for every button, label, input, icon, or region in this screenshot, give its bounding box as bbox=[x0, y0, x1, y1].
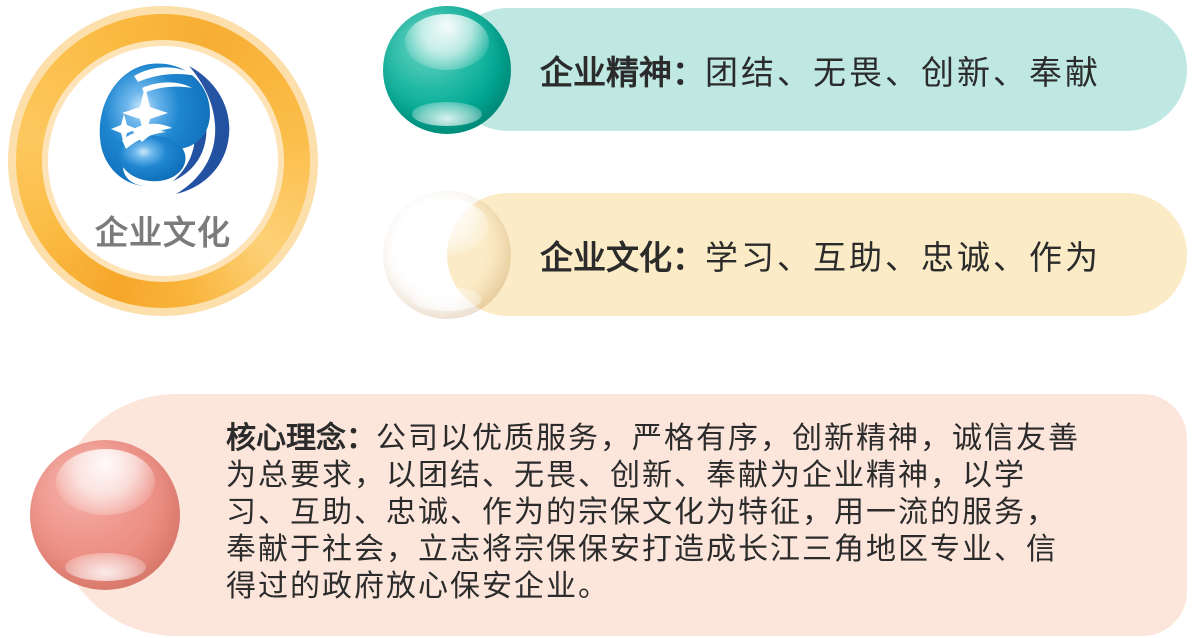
core-philosophy-text: 核心理念：公司以优质服务，严格有序，创新精神，诚信友善为总要求，以团结、无畏、创… bbox=[226, 420, 1086, 605]
banner-culture-label: 企业文化： bbox=[540, 239, 705, 276]
sphere-highlight-bottom bbox=[412, 287, 481, 311]
banner-culture-text: 企业文化：学习、互助、忠诚、作为 bbox=[447, 231, 1101, 279]
yellow-sphere-bullet bbox=[383, 191, 511, 319]
sphere-highlight-top bbox=[56, 449, 155, 515]
culture-emblem: 企业文化 bbox=[8, 6, 318, 316]
pink-sphere-bullet bbox=[30, 440, 180, 590]
banner-culture-body: 学习、互助、忠诚、作为 bbox=[705, 241, 1101, 277]
teal-sphere-bullet bbox=[383, 6, 511, 134]
company-eagle-wave-logo-icon bbox=[88, 50, 240, 202]
sphere-highlight-bottom bbox=[412, 102, 481, 126]
banner-enterprise-culture: 企业文化：学习、互助、忠诚、作为 bbox=[447, 193, 1187, 316]
sphere-highlight-bottom bbox=[65, 553, 146, 582]
banner-spirit-body: 团结、无畏、创新、奉献 bbox=[705, 56, 1101, 92]
core-philosophy-label: 核心理念： bbox=[226, 422, 376, 455]
banner-spirit-label: 企业精神： bbox=[540, 54, 705, 91]
sphere-highlight-top bbox=[405, 199, 489, 255]
banner-enterprise-spirit: 企业精神：团结、无畏、创新、奉献 bbox=[447, 8, 1187, 131]
sphere-highlight-top bbox=[405, 14, 489, 70]
banner-spirit-text: 企业精神：团结、无畏、创新、奉献 bbox=[447, 46, 1101, 94]
emblem-caption: 企业文化 bbox=[48, 206, 278, 254]
